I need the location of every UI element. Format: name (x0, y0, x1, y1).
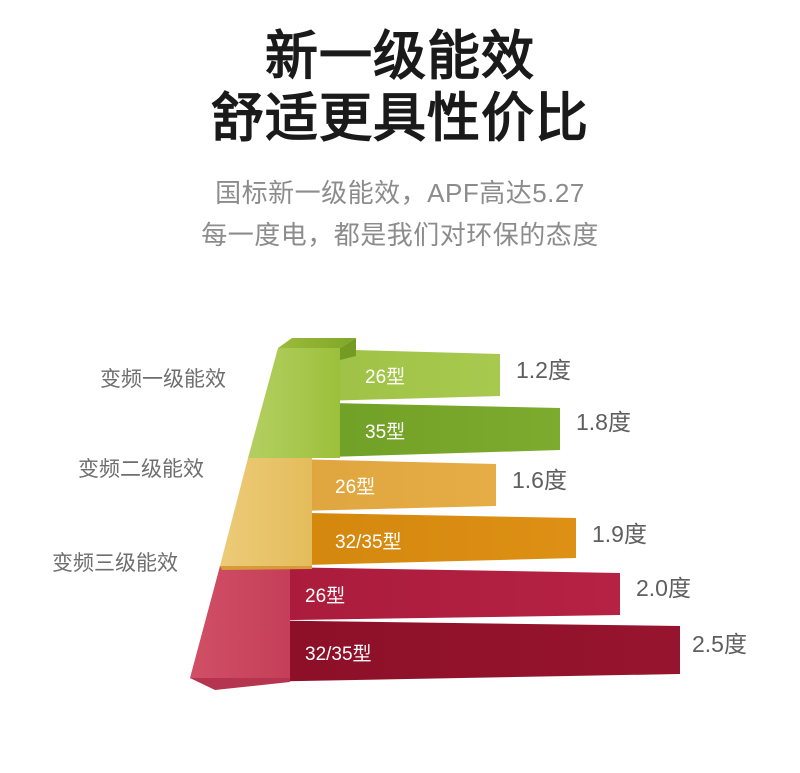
bar-inner-label-1: 26型 (365, 366, 405, 388)
tier-3-group[interactable] (190, 561, 680, 690)
tier-1-face[interactable] (248, 348, 340, 458)
header: 新一级能效 舒适更具性价比 国标新一级能效，APF高达5.27 每一度电，都是我… (0, 0, 800, 256)
page-title-line-1: 新一级能效 (0, 26, 800, 88)
tier-label-level-2: 变频二级能效 (78, 458, 204, 481)
tier-label-level-3: 变频三级能效 (52, 552, 178, 575)
subtitle-line-2: 每一度电，都是我们对环保的态度 (0, 214, 800, 256)
value-label-1: 1.2度 (516, 357, 571, 383)
bar-inner-label-4: 32/35型 (335, 531, 402, 553)
value-label-3: 1.6度 (512, 467, 567, 493)
subtitle-block: 国标新一级能效，APF高达5.27 每一度电，都是我们对环保的态度 (0, 172, 800, 256)
bar-inner-label-3: 26型 (335, 476, 375, 498)
value-label-2: 1.8度 (576, 409, 631, 435)
bar-32-35-level3[interactable] (231, 620, 680, 682)
bar-inner-label-2: 35型 (365, 421, 405, 443)
page-title-line-2: 舒适更具性价比 (0, 88, 800, 150)
bar-inner-label-5: 26型 (305, 585, 345, 607)
pyramid-svg: 变频一级能效 变频二级能效 变频三级能效 26型 35型 26型 32/35型 … (0, 330, 800, 730)
bar-inner-label-6: 32/35型 (305, 643, 372, 665)
tier-2-face[interactable] (220, 458, 312, 566)
value-label-4: 1.9度 (592, 521, 647, 547)
tier-label-level-1: 变频一级能效 (100, 368, 226, 391)
value-label-6: 2.5度 (692, 631, 747, 657)
value-label-5: 2.0度 (636, 575, 691, 601)
subtitle-line-1: 国标新一级能效，APF高达5.27 (0, 172, 800, 214)
tier-3-face[interactable] (190, 566, 290, 678)
tier-3-base (190, 678, 290, 690)
page-root: 新一级能效 舒适更具性价比 国标新一级能效，APF高达5.27 每一度电，都是我… (0, 0, 800, 773)
energy-efficiency-pyramid-chart: 变频一级能效 变频二级能效 变频三级能效 26型 35型 26型 32/35型 … (0, 330, 800, 730)
